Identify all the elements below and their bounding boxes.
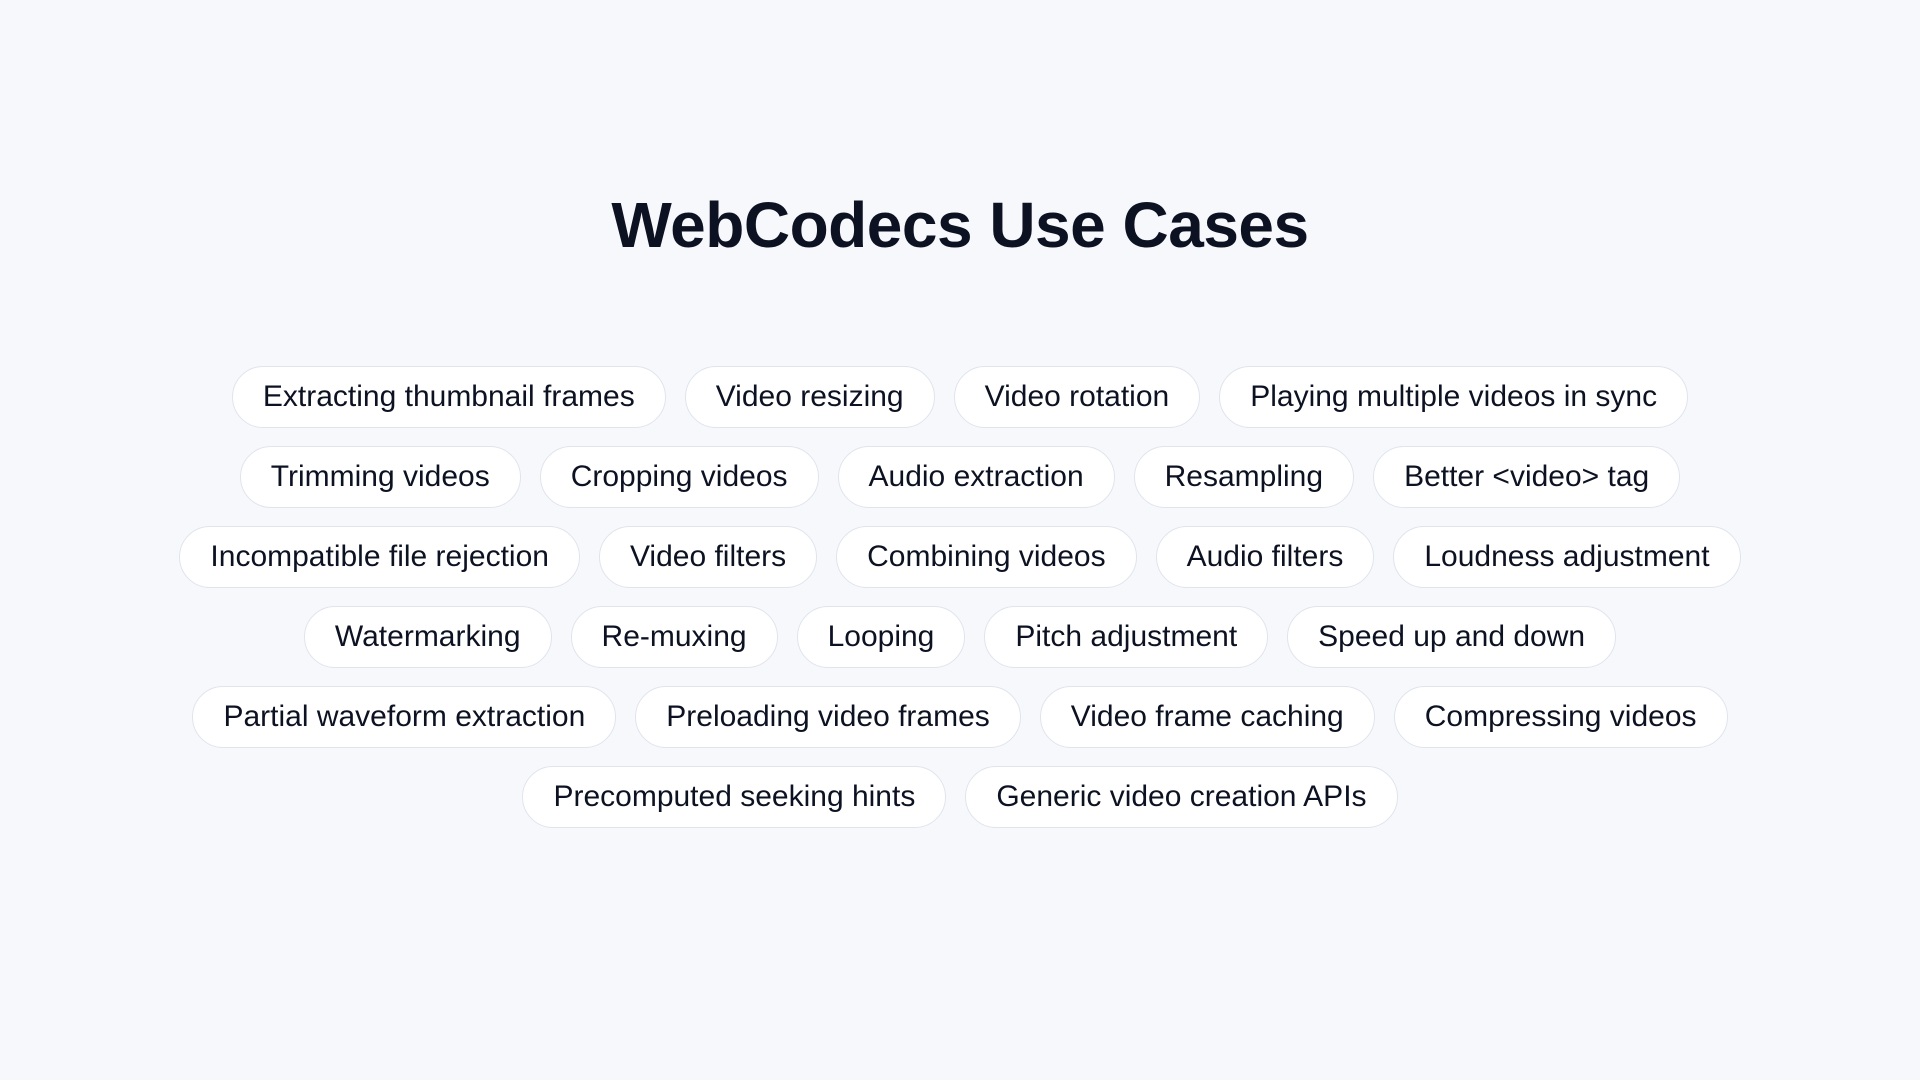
- use-case-tag-cloud: Extracting thumbnail framesVideo resizin…: [160, 366, 1760, 828]
- use-case-tag[interactable]: Precomputed seeking hints: [522, 766, 946, 828]
- use-case-tag[interactable]: Loudness adjustment: [1393, 526, 1740, 588]
- use-case-tag[interactable]: Re-muxing: [571, 606, 778, 668]
- use-case-tag[interactable]: Preloading video frames: [635, 686, 1021, 748]
- use-case-tag[interactable]: Trimming videos: [240, 446, 521, 508]
- use-case-tag[interactable]: Looping: [797, 606, 966, 668]
- use-case-tag[interactable]: Video resizing: [685, 366, 935, 428]
- use-case-tag[interactable]: Pitch adjustment: [984, 606, 1268, 668]
- use-case-tag[interactable]: Cropping videos: [540, 446, 819, 508]
- use-case-tag[interactable]: Playing multiple videos in sync: [1219, 366, 1688, 428]
- use-case-tag[interactable]: Resampling: [1134, 446, 1354, 508]
- use-case-tag[interactable]: Video rotation: [954, 366, 1201, 428]
- use-case-tag[interactable]: Audio extraction: [838, 446, 1115, 508]
- use-case-tag[interactable]: Video frame caching: [1040, 686, 1375, 748]
- use-case-tag[interactable]: Partial waveform extraction: [192, 686, 616, 748]
- use-case-tag[interactable]: Combining videos: [836, 526, 1136, 588]
- use-case-tag[interactable]: Video filters: [599, 526, 817, 588]
- use-case-tag[interactable]: Incompatible file rejection: [179, 526, 580, 588]
- use-case-tag[interactable]: Compressing videos: [1394, 686, 1728, 748]
- use-case-tag[interactable]: Watermarking: [304, 606, 552, 668]
- page-title: WebCodecs Use Cases: [611, 190, 1308, 260]
- use-case-tag[interactable]: Audio filters: [1156, 526, 1375, 588]
- use-case-tag[interactable]: Better <video> tag: [1373, 446, 1680, 508]
- use-case-tag[interactable]: Extracting thumbnail frames: [232, 366, 666, 428]
- use-case-tag[interactable]: Generic video creation APIs: [965, 766, 1397, 828]
- use-case-tag[interactable]: Speed up and down: [1287, 606, 1616, 668]
- page-root: WebCodecs Use Cases Extracting thumbnail…: [0, 0, 1920, 1080]
